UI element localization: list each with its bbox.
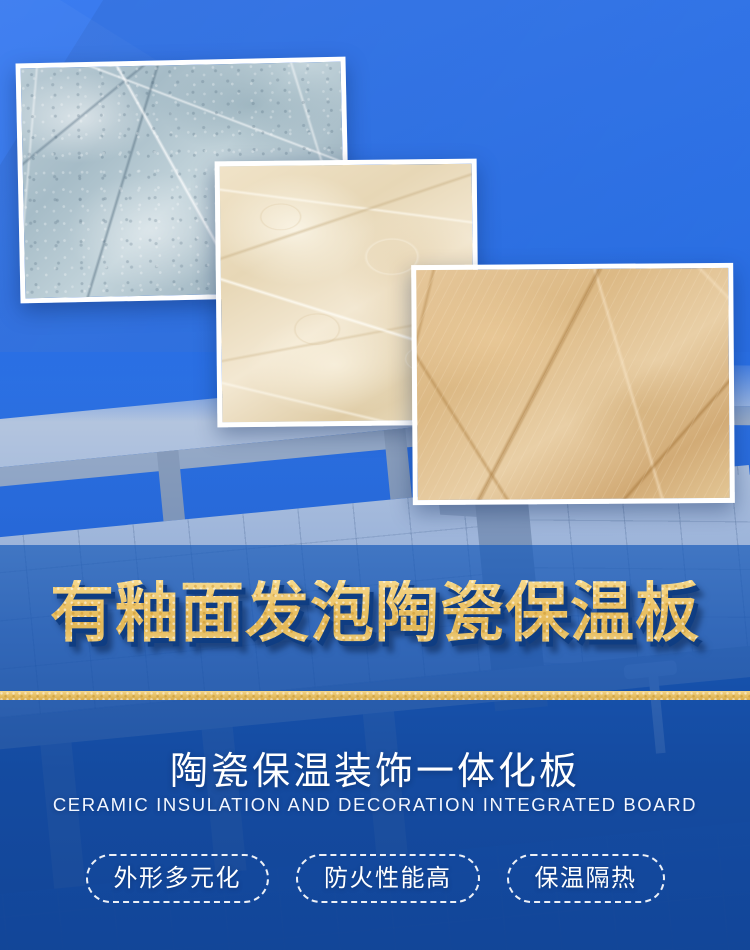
feature-badge-row: 外形多元化 防火性能高 保温隔热 xyxy=(0,854,750,903)
gold-divider xyxy=(0,691,750,700)
subtitle-english: CERAMIC INSULATION AND DECORATION INTEGR… xyxy=(0,794,750,816)
product-promo-banner: 有釉面发泡陶瓷保温板 陶瓷保温装饰一体化板 CERAMIC INSULATION… xyxy=(0,0,750,950)
tile-hatching xyxy=(416,268,730,500)
feature-badge-thermal-insulation[interactable]: 保温隔热 xyxy=(507,854,665,903)
tile-texture xyxy=(416,268,730,500)
headline-container: 有釉面发泡陶瓷保温板 xyxy=(0,580,750,646)
subtitle-chinese: 陶瓷保温装饰一体化板 xyxy=(0,740,750,795)
headline-text: 有釉面发泡陶瓷保温板 xyxy=(50,580,700,646)
feature-badge-fire-resistance[interactable]: 防火性能高 xyxy=(296,854,480,903)
feature-badge-shape-variety[interactable]: 外形多元化 xyxy=(86,854,270,903)
sample-tile-tan-marble[interactable] xyxy=(411,263,735,505)
